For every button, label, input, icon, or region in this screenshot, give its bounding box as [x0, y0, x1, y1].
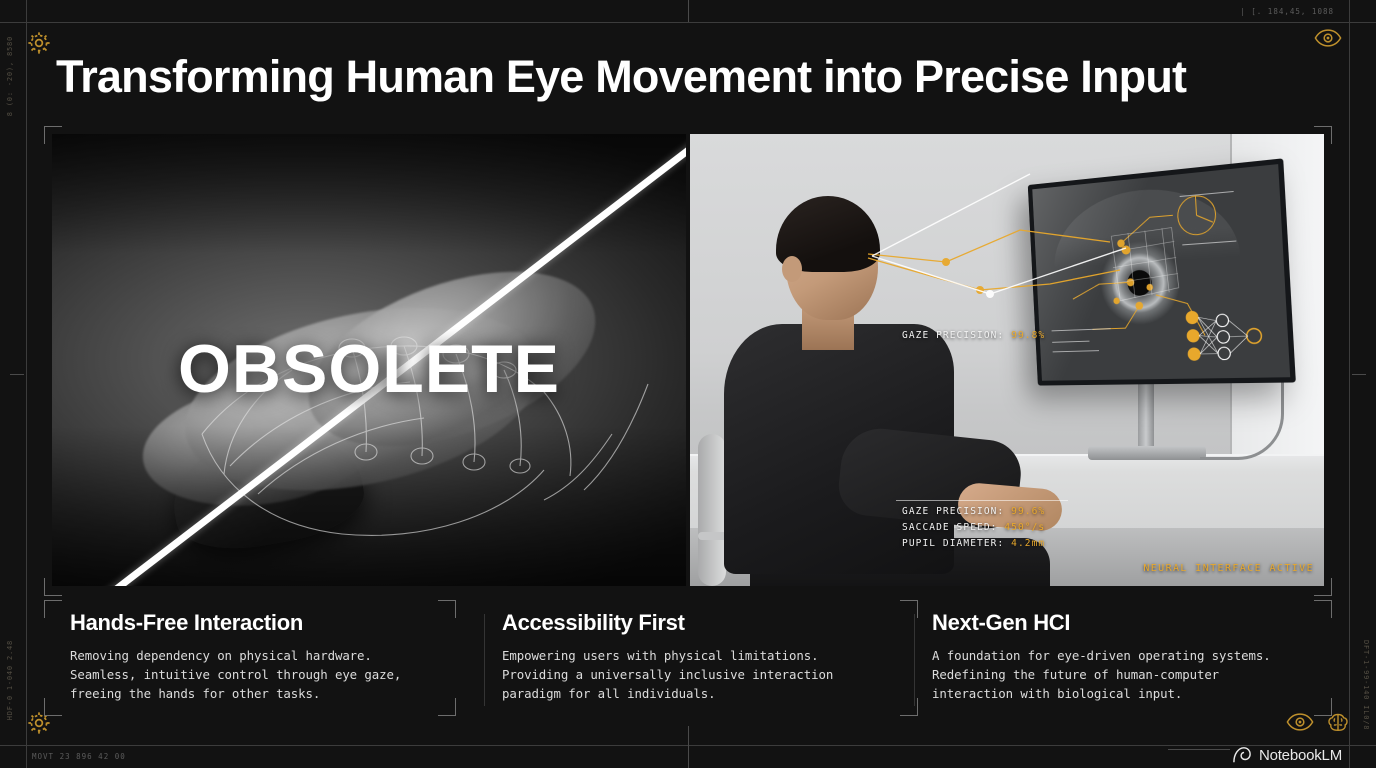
code-left-vertical-top: 8 (0: -20), 8580 — [6, 36, 14, 116]
gear-icon — [26, 30, 52, 61]
brand-name: NotebookLM — [1259, 747, 1342, 764]
feature-cards: Hands-Free Interaction Removing dependen… — [52, 600, 1324, 718]
hud-metric-gaze-precision: GAZE PRECISION: 99.6% — [902, 506, 1045, 517]
card-accessibility-first: Accessibility First Empowering users wit… — [484, 600, 914, 718]
hud-value: 450°/s — [1004, 522, 1045, 533]
panel-eye-tracking-demo: GAZE PRECISION: 99.8% GAZE PRECISION: 99… — [690, 134, 1324, 586]
card-body: A foundation for eye-driven operating sy… — [932, 646, 1306, 703]
media-band: OBSOLETE — [52, 134, 1324, 586]
frame-line-right — [1349, 0, 1350, 768]
hud-value: 99.6% — [1011, 506, 1045, 517]
hud-label: PUPIL DIAMETER: — [902, 538, 1004, 549]
card-body: Empowering users with physical limitatio… — [502, 646, 896, 703]
card-divider-2 — [914, 614, 915, 706]
hud-label: GAZE PRECISION: — [902, 506, 1004, 517]
obsolete-label: OBSOLETE — [52, 330, 686, 408]
notebooklm-logo-icon — [1232, 746, 1252, 764]
slide-root: | [. 184,45, 1088 MOVT 23 896 42 00 8 (0… — [0, 0, 1376, 768]
hud-divider — [896, 500, 1068, 501]
frame-line-top — [0, 22, 1376, 23]
panel-obsolete-mouse: OBSOLETE — [52, 134, 686, 586]
frame-tick-left — [10, 374, 24, 375]
frame-tick-right — [1352, 374, 1366, 375]
card-body: Removing dependency on physical hardware… — [70, 646, 466, 703]
card-title: Accessibility First — [502, 610, 896, 636]
code-left-vertical-bottom: HDF-0 1-040 2.48 — [6, 640, 14, 720]
card-title: Next-Gen HCI — [932, 610, 1306, 636]
frame-line-left — [26, 0, 27, 768]
code-top-right: | [. 184,45, 1088 — [1240, 7, 1334, 16]
hud-label: SACCADE SPEED: — [902, 522, 997, 533]
status-badge: NEURAL INTERFACE ACTIVE — [1143, 563, 1314, 574]
hud-value: 4.2mm — [1011, 538, 1045, 549]
brand-divider — [1168, 749, 1230, 750]
card-divider-1 — [484, 614, 485, 706]
code-bottom-left: MOVT 23 896 42 00 — [32, 752, 126, 761]
page-title: Transforming Human Eye Movement into Pre… — [56, 52, 1186, 102]
card-title: Hands-Free Interaction — [70, 610, 466, 636]
hud-label: GAZE PRECISION: — [902, 330, 1004, 341]
gear-icon — [26, 710, 52, 741]
hud-metric-pupil-diameter: PUPIL DIAMETER: 4.2mm — [902, 538, 1045, 549]
brand-notebooklm: NotebookLM — [1232, 746, 1342, 764]
frame-line-center-bottom — [688, 726, 689, 768]
hud-value: 99.8% — [1011, 330, 1045, 341]
gaze-ray-overlay — [690, 134, 1324, 586]
brain-icon — [1326, 712, 1350, 739]
card-next-gen-hci: Next-Gen HCI A foundation for eye-driven… — [914, 600, 1324, 718]
frame-line-bottom — [0, 745, 1376, 746]
code-right-vertical-bottom: DFT-1-99-140 IL0/8 — [1362, 640, 1370, 730]
card-hands-free-interaction: Hands-Free Interaction Removing dependen… — [52, 600, 484, 718]
frame-line-center-top — [688, 0, 689, 22]
eye-icon — [1314, 28, 1342, 53]
hud-metric-saccade-speed: SACCADE SPEED: 450°/s — [902, 522, 1045, 533]
hud-gaze-precision-top: GAZE PRECISION: 99.8% — [902, 330, 1045, 341]
